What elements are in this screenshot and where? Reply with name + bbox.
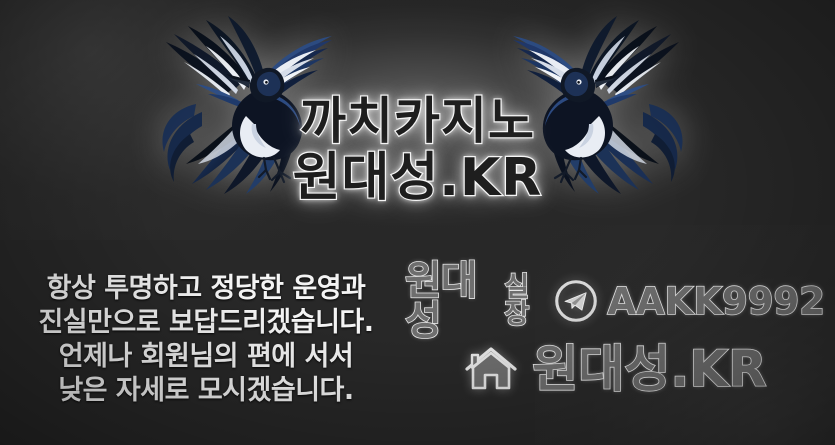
slogan-line-4: 낮은 자세로 모시겠습니다. (16, 374, 396, 408)
home-icon (463, 342, 519, 396)
manager-title: 실장 (504, 274, 545, 328)
slogan-line-2: 진실만으로 보답드리겠습니다. (16, 306, 396, 340)
magpie-illustration-left (118, 12, 348, 202)
tail-streaks (643, 104, 683, 182)
slogan-line-3: 언제나 회원님의 편에 서서 (16, 340, 396, 374)
telegram-handle[interactable]: AAKK9992 (607, 283, 825, 320)
website-row[interactable]: 원대성.KR (405, 330, 825, 408)
manager-name: 원대성 (405, 261, 497, 341)
telegram-contact-row[interactable]: 원대성 실장 AAKK9992 (405, 270, 825, 332)
magpie-illustration-right (497, 12, 727, 202)
slogan-block: 항상 투명하고 정당한 운영과 진실만으로 보답드리겠습니다. 언제나 회원님의… (16, 272, 396, 408)
casino-promo-banner: 까치카지노 원대성.KR 항상 투명하고 정당한 운영과 진실만으로 보답드리겠… (0, 0, 835, 445)
slogan-line-1: 항상 투명하고 정당한 운영과 (16, 272, 396, 306)
telegram-icon[interactable] (554, 279, 598, 323)
contact-block: 원대성 실장 AAKK9992 원대성.KR (405, 270, 825, 408)
site-domain[interactable]: 원대성.KR (532, 344, 766, 394)
tail-streaks (162, 104, 202, 182)
